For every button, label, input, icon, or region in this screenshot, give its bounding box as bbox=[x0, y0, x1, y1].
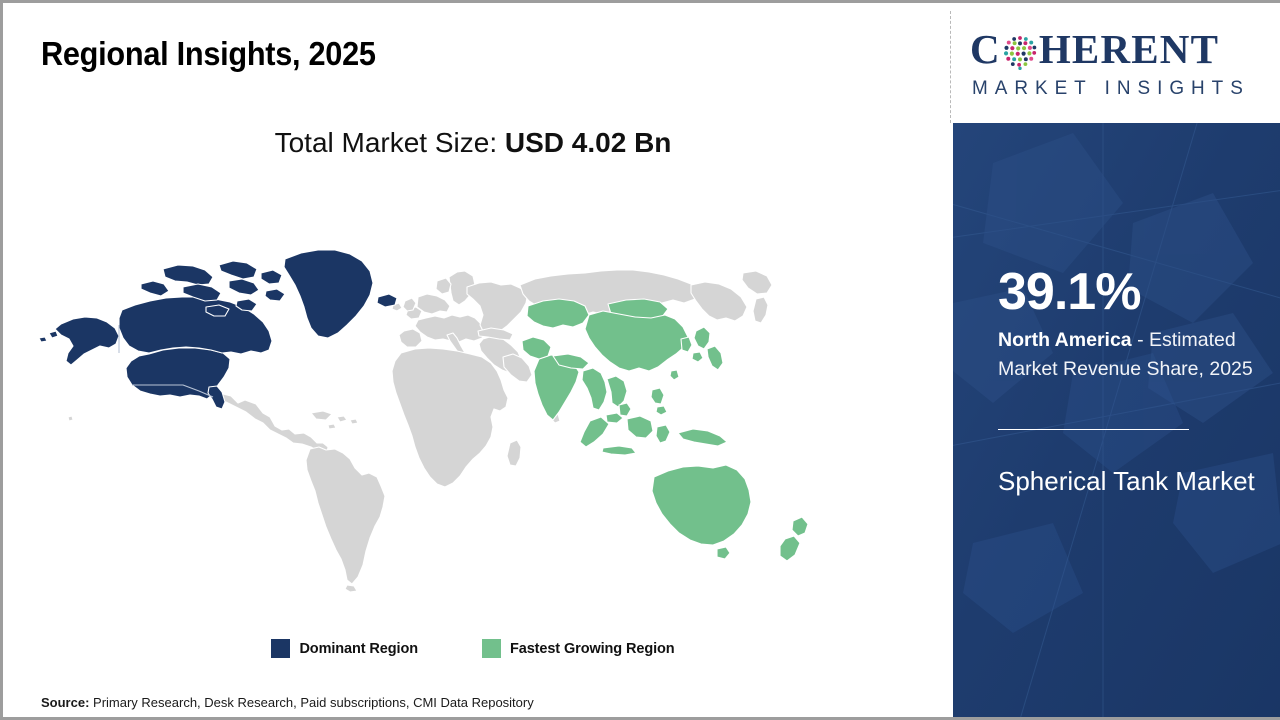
logo-wordmark: C bbox=[970, 25, 1219, 73]
stat-region-name: North America bbox=[998, 329, 1132, 351]
stat-divider bbox=[998, 429, 1189, 430]
logo-subtitle: MARKET INSIGHTS bbox=[972, 77, 1250, 100]
legend-item-dominant: Dominant Region bbox=[271, 639, 418, 658]
market-size-label: Total Market Size: bbox=[275, 127, 505, 158]
page-title: Regional Insights, 2025 bbox=[41, 35, 376, 73]
world-map-svg bbox=[23, 181, 923, 621]
infographic-page: Regional Insights, 2025 Total Market Siz… bbox=[0, 0, 1280, 720]
map-region-north-america bbox=[39, 250, 397, 409]
dotted-globe-icon bbox=[1002, 32, 1038, 68]
logo: C bbox=[953, 3, 1280, 123]
legend-label-dominant: Dominant Region bbox=[299, 641, 418, 657]
source-text: Primary Research, Desk Research, Paid su… bbox=[89, 695, 533, 710]
stat-description: North America - Estimated Market Revenue… bbox=[998, 326, 1268, 383]
source-note: Source: Primary Research, Desk Research,… bbox=[41, 695, 534, 710]
stat-content: 39.1% North America - Estimated Market R… bbox=[998, 123, 1280, 720]
stat-percentage: 39.1% bbox=[998, 266, 1140, 318]
source-label: Source: bbox=[41, 695, 89, 710]
square-swatch-icon bbox=[271, 639, 290, 658]
total-market-size: Total Market Size: USD 4.02 Bn bbox=[3, 127, 943, 159]
logo-letter-c: C bbox=[970, 25, 1001, 73]
stat-panel: 39.1% North America - Estimated Market R… bbox=[953, 123, 1280, 720]
legend-item-fastest: Fastest Growing Region bbox=[482, 639, 675, 658]
logo-letters-herent: HERENT bbox=[1039, 25, 1219, 73]
legend-label-fastest: Fastest Growing Region bbox=[510, 641, 675, 657]
world-map bbox=[23, 181, 923, 621]
map-region-asia-pacific bbox=[522, 299, 808, 561]
map-column: Regional Insights, 2025 Total Market Siz… bbox=[3, 3, 951, 720]
brand-column: C bbox=[953, 3, 1280, 720]
map-legend: Dominant Region Fastest Growing Region bbox=[3, 639, 943, 658]
market-size-value: USD 4.02 Bn bbox=[505, 127, 672, 158]
square-swatch-icon bbox=[482, 639, 501, 658]
header-divider bbox=[950, 11, 951, 123]
market-name: Spherical Tank Market bbox=[998, 463, 1258, 500]
